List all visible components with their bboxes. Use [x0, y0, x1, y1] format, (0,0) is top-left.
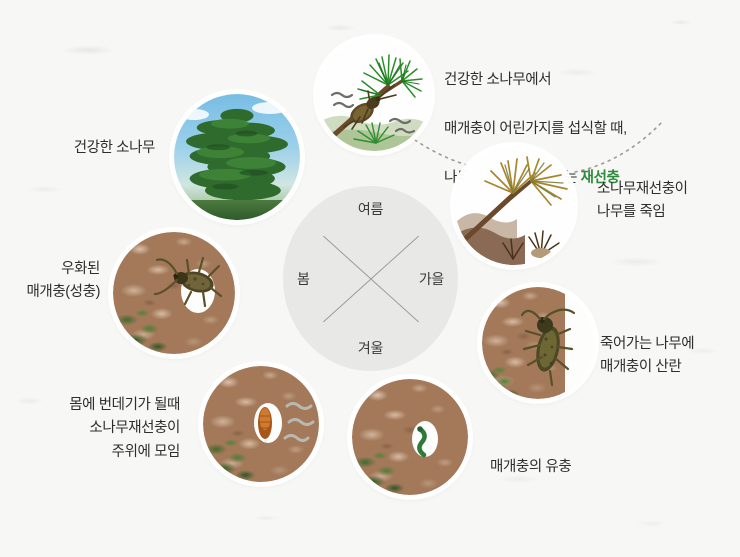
diagram-canvas: 여름 가을 겨울 봄: [0, 0, 740, 557]
season-label-summer: 여름: [358, 199, 383, 219]
pupa-and-nematodes-glyph: [203, 366, 319, 482]
larva-in-bark-photo: [352, 379, 468, 495]
stage-label-nematode-kills-tree: 소나무재선충이 나무를 죽임: [597, 178, 732, 225]
emerged-beetle-photo: [113, 232, 235, 354]
stage-label-pupa-nematode-gather: 몸에 번데기가 될때 소나무재선충이 주위에 모임: [20, 394, 180, 464]
stage-image-healthy-pine[interactable]: [174, 94, 300, 220]
season-wheel: 여름 가을 겨울 봄: [283, 186, 458, 371]
stage-label-emerged-adult: 우화된 매개충(성충): [10, 258, 100, 305]
healthy-pine-photo: [174, 94, 300, 220]
stage-image-pupa-nematode-gather[interactable]: [203, 366, 319, 482]
feeding-label-line1: 건강한 소나무에서: [444, 68, 714, 92]
stage-label-larva: 매개충의 유충: [490, 456, 650, 479]
pupa-in-bark-photo: [203, 366, 319, 482]
season-label-winter: 겨울: [358, 338, 383, 358]
stage-image-beetle-feeding[interactable]: [318, 39, 430, 151]
stage-image-larva[interactable]: [352, 379, 468, 495]
pine-shoot-beetle-drawing: [318, 39, 430, 151]
stage-label-healthy-pine: 건강한 소나무: [20, 137, 155, 160]
stage-image-beetle-lays-eggs[interactable]: [482, 287, 594, 399]
season-label-spring: 봄: [297, 269, 310, 289]
season-label-autumn: 가을: [419, 269, 444, 289]
browned-pine-branch-drawing: [455, 147, 573, 265]
pine-canopy: [178, 104, 296, 202]
longhorn-beetle-glyph: [482, 287, 594, 399]
larva-glyph: [352, 379, 468, 495]
beetle-on-bark-photo: [482, 287, 594, 399]
stage-image-emerged-adult[interactable]: [113, 232, 235, 354]
feeding-label-line2: 매개충이 어린가지를 섭식할 때,: [444, 117, 714, 141]
adult-beetle-glyph: [113, 232, 235, 354]
stage-label-beetle-lays-eggs: 죽어가는 나무에 매개충이 산란: [600, 333, 735, 380]
stage-image-nematode-kills-tree[interactable]: [455, 147, 573, 265]
forest-floor: [174, 200, 300, 220]
beetle-feeding-illustration: [318, 39, 430, 151]
dying-branch-illustration: [455, 147, 573, 265]
